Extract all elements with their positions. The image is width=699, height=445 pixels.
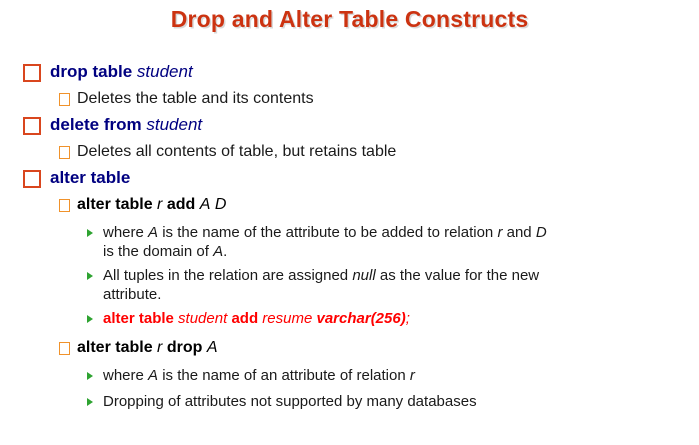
list-item-alter-table-add[interactable]: alter table r add A D	[0, 193, 699, 218]
slide-body: drop table student Deletes the table and…	[0, 60, 699, 415]
list-item-label: Deletes the table and its contents	[77, 87, 699, 110]
list-item-drop-table-desc[interactable]: Deletes the table and its contents	[0, 87, 699, 112]
arg-student: student	[137, 62, 193, 81]
arg-student: student	[146, 115, 202, 134]
keyword-drop-table: drop table	[50, 62, 132, 81]
square-bullet-icon	[59, 342, 70, 355]
list-item-alter-table[interactable]: alter table	[0, 166, 699, 192]
list-item-label: alter table r drop A	[77, 336, 699, 359]
var-r: r	[410, 367, 415, 384]
keyword-delete-from: delete from	[50, 115, 142, 134]
list-item-label: delete from student	[50, 113, 699, 137]
list-item-dropping-unsupported[interactable]: Dropping of attributes not supported by …	[0, 392, 699, 413]
square-bullet-icon	[23, 117, 41, 135]
text-run: where	[103, 224, 148, 241]
column-name-resume: resume	[262, 310, 312, 327]
list-item-where-drop[interactable]: where A is the name of an attribute of r…	[0, 366, 699, 387]
list-item-label: where A is the name of the attribute to …	[103, 223, 553, 261]
triangle-bullet-icon	[87, 315, 93, 323]
var-r: r	[157, 339, 162, 356]
var-a2: A	[213, 243, 223, 260]
text-run: and	[502, 224, 535, 241]
keyword-add: add	[231, 310, 258, 327]
var-d: D	[215, 196, 227, 213]
text-run: All tuples in the relation are assigned	[103, 267, 352, 284]
list-item-where-add[interactable]: where A is the name of the attribute to …	[0, 223, 699, 261]
list-item-label: where A is the name of an attribute of r…	[103, 366, 553, 385]
list-item-alter-table-drop[interactable]: alter table r drop A	[0, 336, 699, 361]
list-item-delete-from-desc[interactable]: Deletes all contents of table, but retai…	[0, 140, 699, 165]
square-bullet-icon	[59, 93, 70, 106]
var-a: A	[207, 339, 218, 356]
list-item-null-assignment[interactable]: All tuples in the relation are assigned …	[0, 266, 699, 304]
list-item-label: All tuples in the relation are assigned …	[103, 266, 553, 304]
keyword-alter-table: alter table	[77, 339, 153, 356]
list-item-label: Dropping of attributes not supported by …	[103, 392, 553, 411]
table-name-student: student	[178, 310, 227, 327]
var-r: r	[157, 196, 162, 213]
text-run: .	[223, 243, 227, 260]
keyword-drop: drop	[167, 339, 203, 356]
list-item-delete-from[interactable]: delete from student	[0, 113, 699, 139]
keyword-null: null	[352, 267, 375, 284]
statement-terminator: ;	[406, 310, 410, 327]
triangle-bullet-icon	[87, 229, 93, 237]
list-item-sql-example[interactable]: alter table student add resume varchar(2…	[0, 309, 699, 330]
square-bullet-icon	[23, 170, 41, 188]
var-d: D	[536, 224, 547, 241]
text-run: where	[103, 367, 148, 384]
triangle-bullet-icon	[87, 272, 93, 280]
text-run: is the name of an attribute of relation	[158, 367, 410, 384]
square-bullet-icon	[59, 199, 70, 212]
datatype-varchar: varchar(256)	[316, 310, 405, 327]
list-item-label: drop table student	[50, 60, 699, 84]
keyword-add: add	[167, 196, 195, 213]
triangle-bullet-icon	[87, 398, 93, 406]
triangle-bullet-icon	[87, 372, 93, 380]
page-title: Drop and Alter Table Constructs	[0, 6, 699, 33]
var-a: A	[148, 224, 158, 241]
list-item-label: alter table student add resume varchar(2…	[103, 309, 623, 328]
square-bullet-icon	[23, 64, 41, 82]
list-item-label: Deletes all contents of table, but retai…	[77, 140, 699, 163]
list-item-drop-table[interactable]: drop table student	[0, 60, 699, 86]
keyword-alter-table: alter table	[103, 310, 174, 327]
list-item-label: alter table	[50, 166, 699, 190]
text-run: is the name of the attribute to be added…	[158, 224, 497, 241]
var-a: A	[148, 367, 158, 384]
keyword-alter-table: alter table	[77, 196, 153, 213]
text-run: is the domain of	[103, 243, 213, 260]
var-a: A	[200, 196, 211, 213]
square-bullet-icon	[59, 146, 70, 159]
list-item-label: alter table r add A D	[77, 193, 699, 216]
